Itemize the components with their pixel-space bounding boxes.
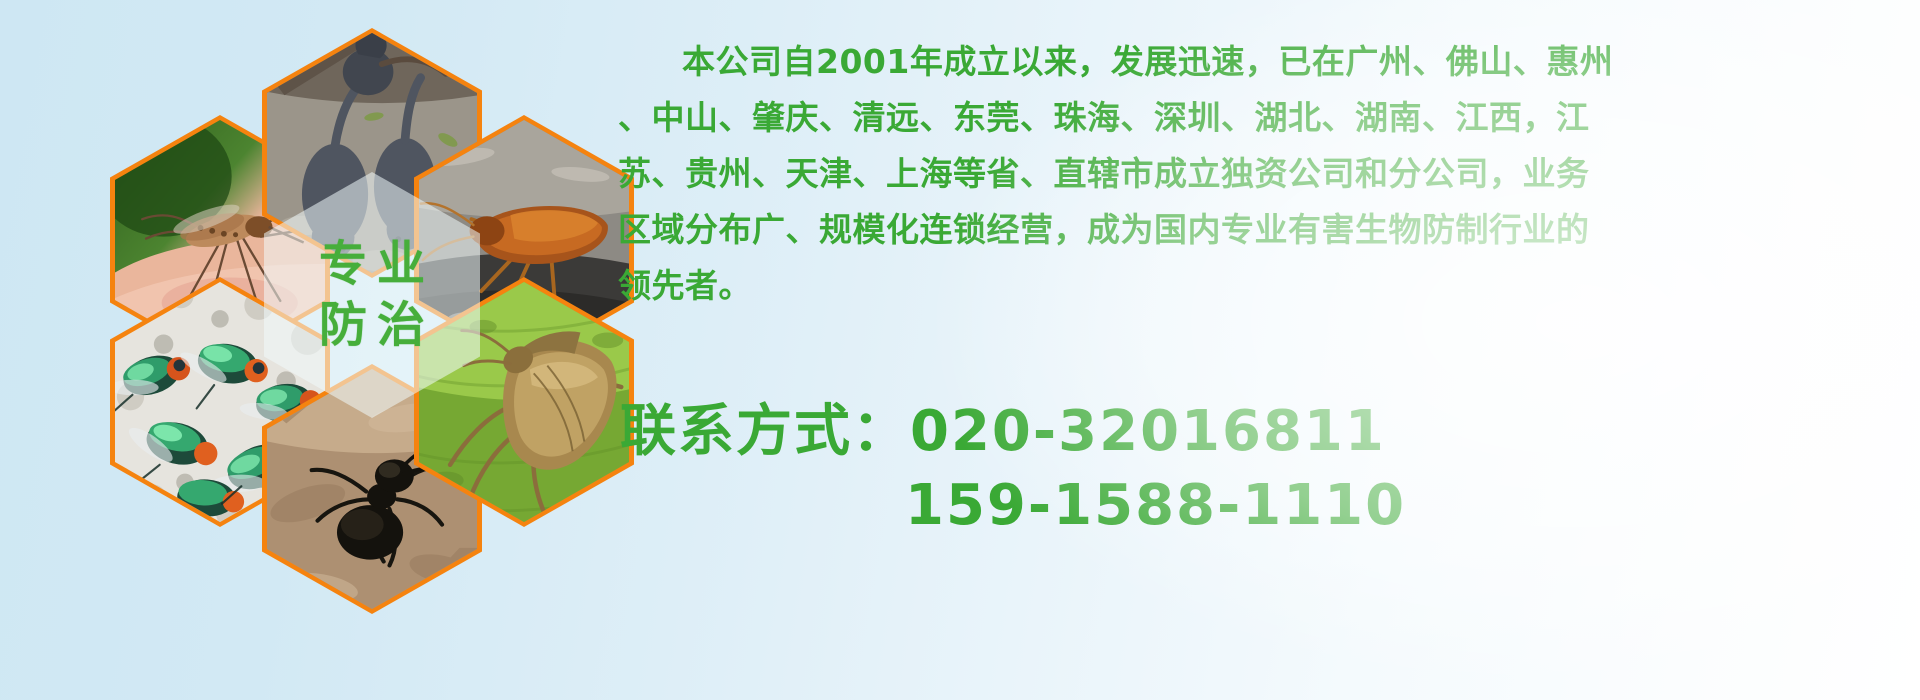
intro-line-5: 领先者。 <box>618 258 1908 314</box>
intro-line-3: 苏、贵州、天津、上海等省、直辖市成立独资公司和分公司，业务 <box>618 146 1908 202</box>
center-label-line2: 防治 <box>309 295 435 356</box>
copy-column: 本公司自2001年成立以来，发展迅速，已在广州、佛山、惠州 、中山、肇庆、清远、… <box>600 0 1920 700</box>
contact-block: 联系方式：020-32016811 159-1588-1110 <box>620 395 1910 543</box>
intro-line-2: 、中山、肇庆、清远、东莞、珠海、深圳、湖北、湖南、江西，江 <box>618 90 1908 146</box>
center-label-line1: 专业 <box>309 234 435 295</box>
honeycomb-gallery: 专业 防治 <box>0 0 600 700</box>
company-intro-paragraph: 本公司自2001年成立以来，发展迅速，已在广州、佛山、惠州 、中山、肇庆、清远、… <box>618 34 1908 314</box>
intro-line-1: 本公司自2001年成立以来，发展迅速，已在广州、佛山、惠州 <box>618 34 1908 90</box>
intro-line-4: 区域分布广、规模化连锁经营，成为国内专业有害生物防制行业的 <box>618 202 1908 258</box>
promo-banner: 专业 防治 本公司自2001年成立以来，发展迅速，已在广州、佛山、惠州 、中山、… <box>0 0 1920 700</box>
contact-phone-primary[interactable]: 联系方式：020-32016811 <box>620 395 1910 469</box>
contact-phone-secondary[interactable]: 159-1588-1110 <box>620 469 1910 543</box>
